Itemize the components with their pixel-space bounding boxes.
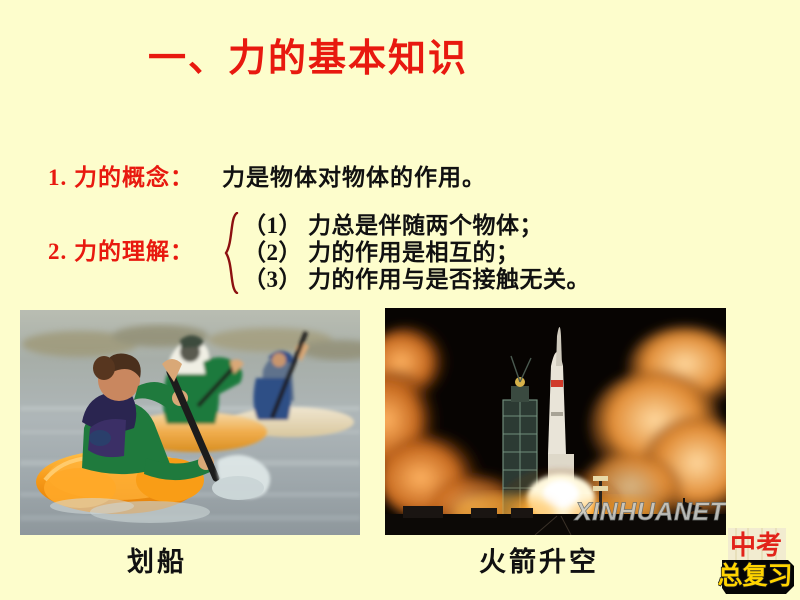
list-item-text: 力的作用与是否接触无关。: [308, 267, 590, 292]
photo-watermark: XINHUANET: [573, 498, 726, 526]
concept-text: 力是物体对物体的作用。: [222, 158, 486, 192]
page-title: 一、力的基本知识: [148, 38, 468, 82]
understanding-list: （1）力总是伴随两个物体； （2）力的作用是相互的； （3）力的作用与是否接触无…: [243, 212, 590, 293]
list-item: （2）力的作用是相互的；: [243, 239, 590, 266]
list-item-text: 力总是伴随两个物体；: [308, 213, 543, 238]
list-item-number: （3）: [243, 267, 302, 292]
zhongkao-review-badge: 中考 总复习: [718, 526, 794, 596]
caption-rowing: 划船: [127, 540, 187, 579]
list-item: （1）力总是伴随两个物体；: [243, 212, 590, 239]
photo-rocket-launch: XINHUANET: [385, 308, 726, 535]
badge-line1-text: 中考: [730, 531, 782, 560]
list-item-number: （2）: [243, 240, 302, 265]
list-item: （3）力的作用与是否接触无关。: [243, 266, 590, 293]
list-item-text: 力的作用是相互的；: [308, 240, 520, 265]
curly-brace-icon: [224, 212, 242, 294]
understanding-label: 2. 力的理解：: [48, 232, 194, 266]
slide-canvas: 一、力的基本知识 1. 力的概念： 力是物体对物体的作用。 2. 力的理解： （…: [0, 0, 800, 600]
caption-rocket-launch: 火箭升空: [479, 540, 599, 579]
list-item-number: （1）: [243, 213, 302, 238]
concept-label: 1. 力的概念：: [48, 158, 194, 192]
photo-rowing: [20, 310, 360, 535]
badge-line2-text: 总复习: [718, 561, 793, 590]
concept-row: 1. 力的概念： 力是物体对物体的作用。: [48, 158, 486, 192]
